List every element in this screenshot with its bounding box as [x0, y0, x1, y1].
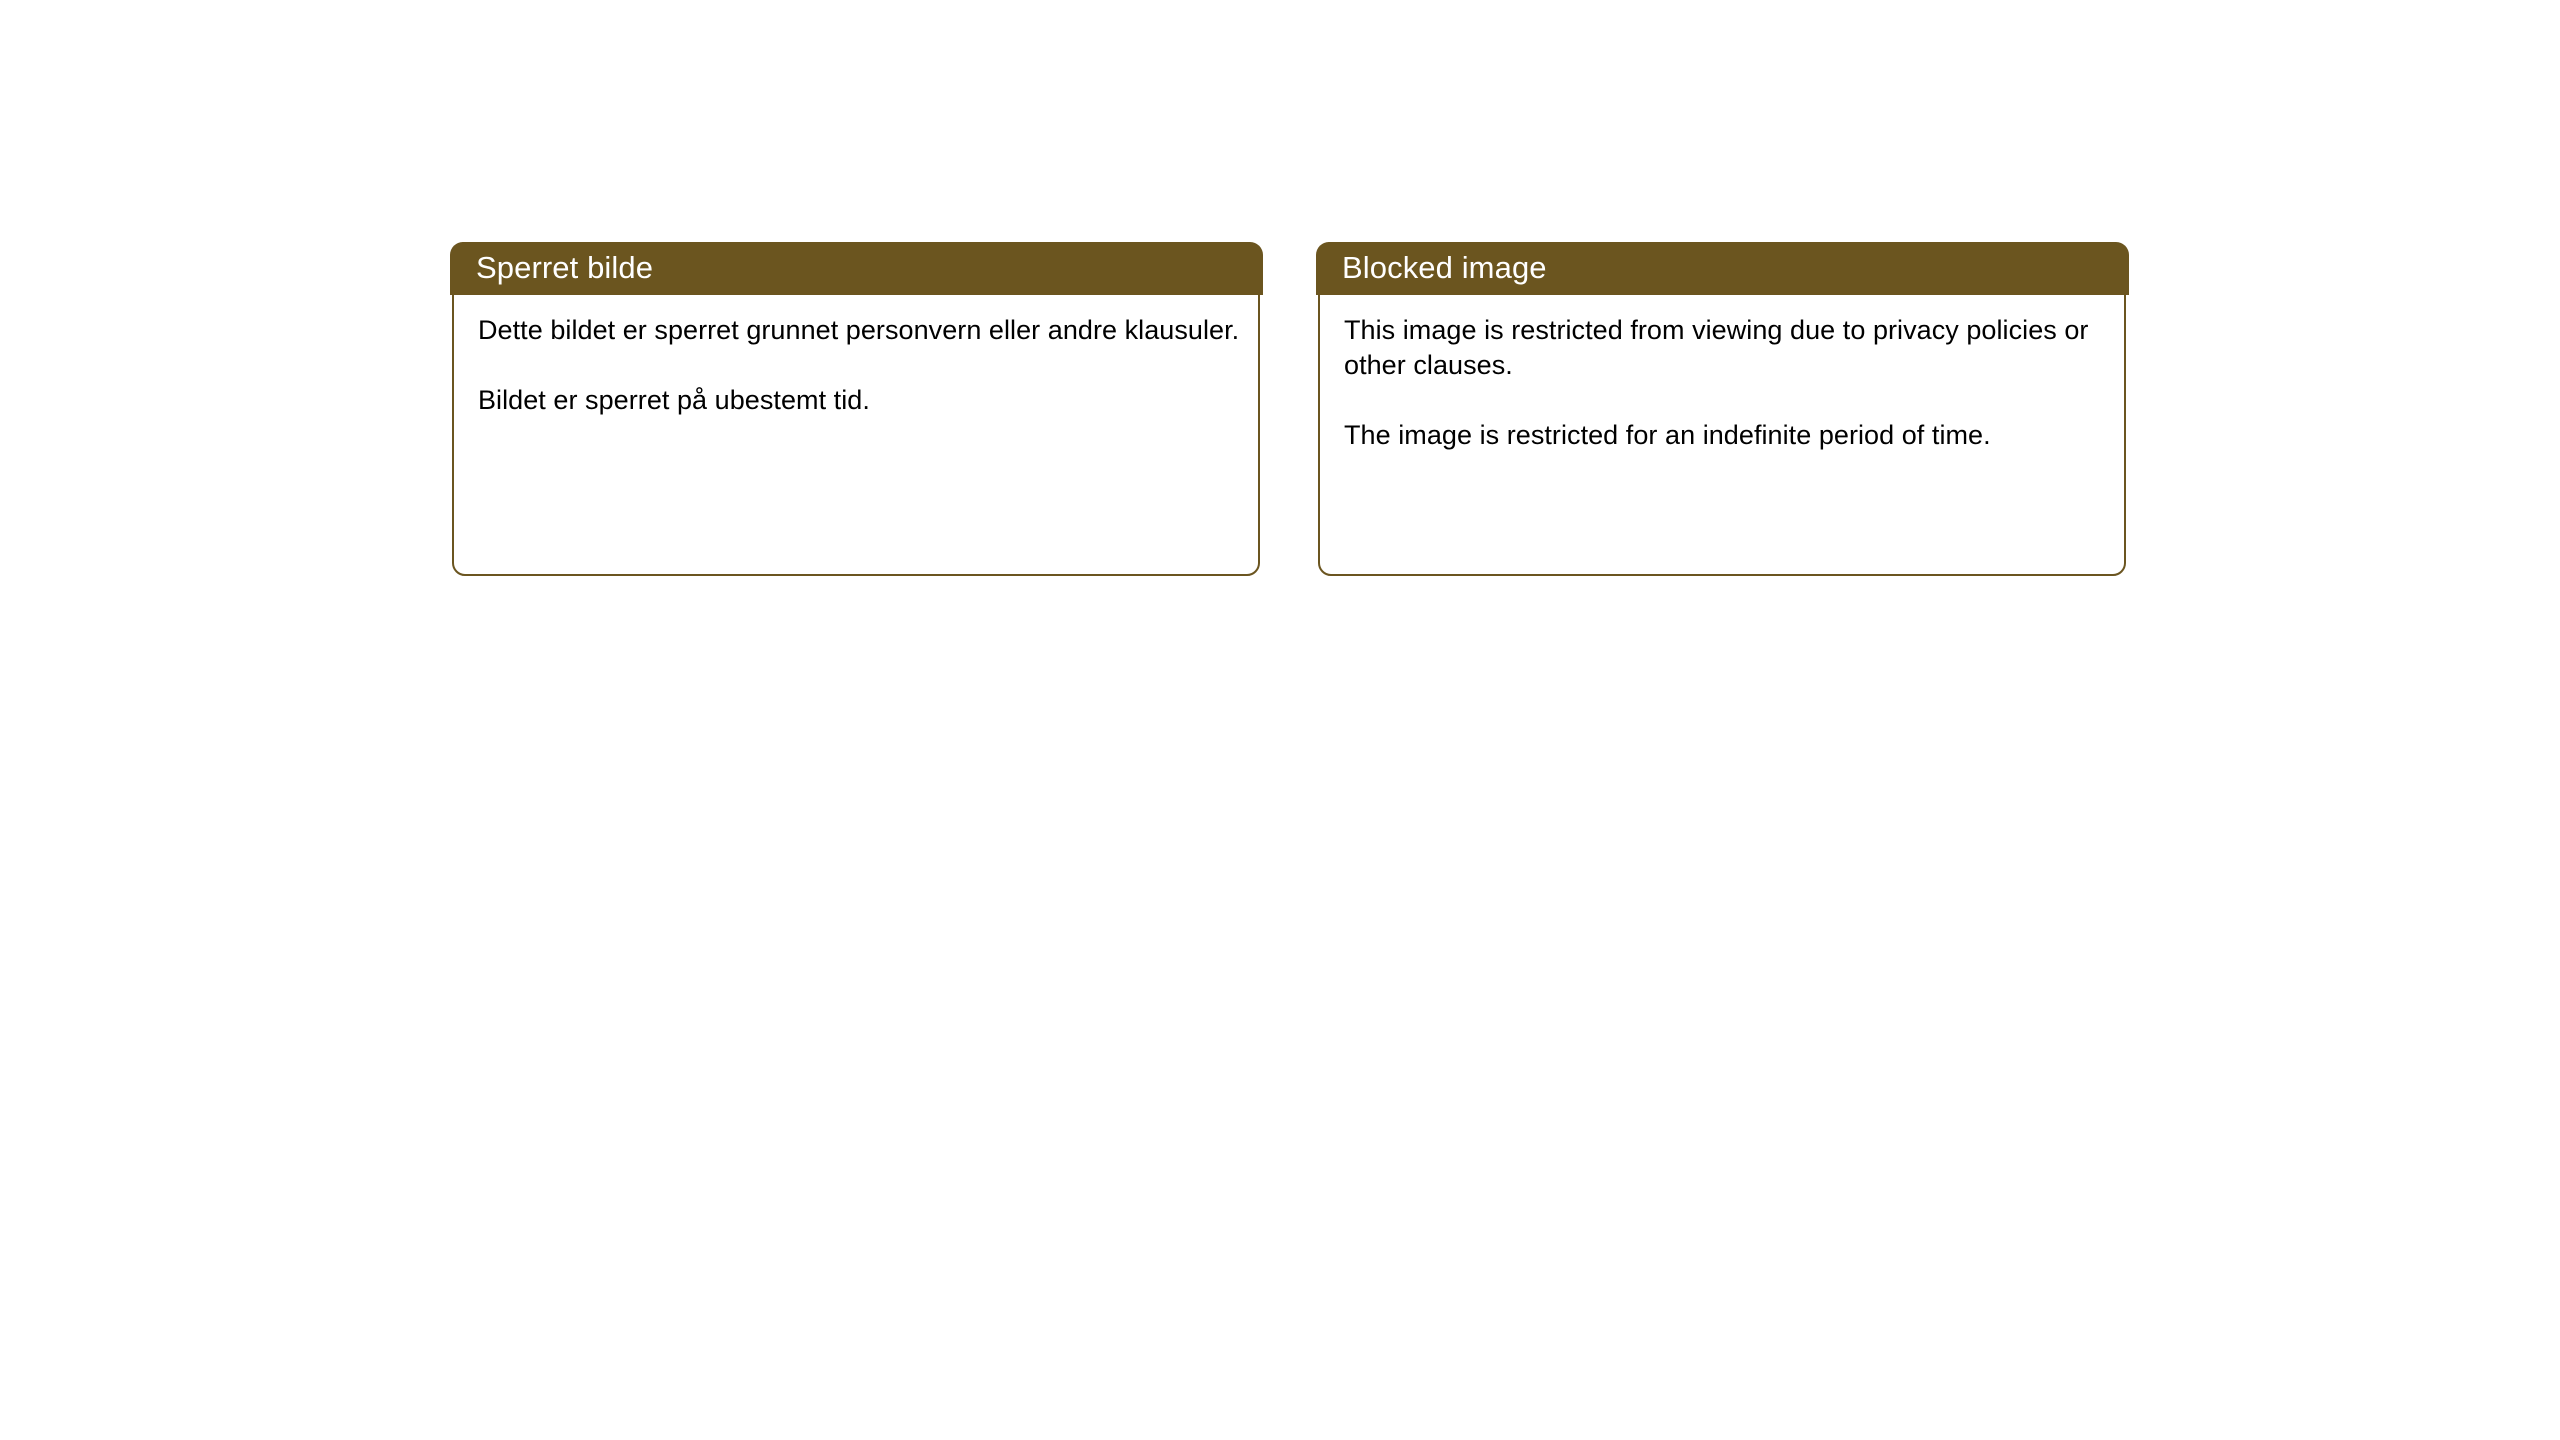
panel-content-norwegian: Dette bildet er sperret grunnet personve…	[452, 295, 1260, 576]
panel-title-norwegian: Sperret bilde	[476, 247, 653, 289]
panel-paragraph-norwegian-2: Bildet er sperret på ubestemt tid.	[478, 383, 1240, 418]
panel-paragraph-english-2: The image is restricted for an indefinit…	[1344, 418, 2096, 453]
panel-header-english: Blocked image	[1316, 242, 2129, 295]
blocked-image-notice-english: Blocked image This image is restricted f…	[1318, 242, 2126, 576]
page-canvas: Sperret bilde Dette bildet er sperret gr…	[0, 0, 2560, 1440]
panel-paragraph-norwegian-1: Dette bildet er sperret grunnet personve…	[478, 313, 1240, 348]
panel-header-norwegian: Sperret bilde	[450, 242, 1263, 295]
panel-content-english: This image is restricted from viewing du…	[1318, 295, 2126, 576]
panel-title-english: Blocked image	[1342, 247, 1547, 289]
blocked-image-notice-norwegian: Sperret bilde Dette bildet er sperret gr…	[452, 242, 1260, 576]
panel-paragraph-english-1: This image is restricted from viewing du…	[1344, 313, 2096, 383]
